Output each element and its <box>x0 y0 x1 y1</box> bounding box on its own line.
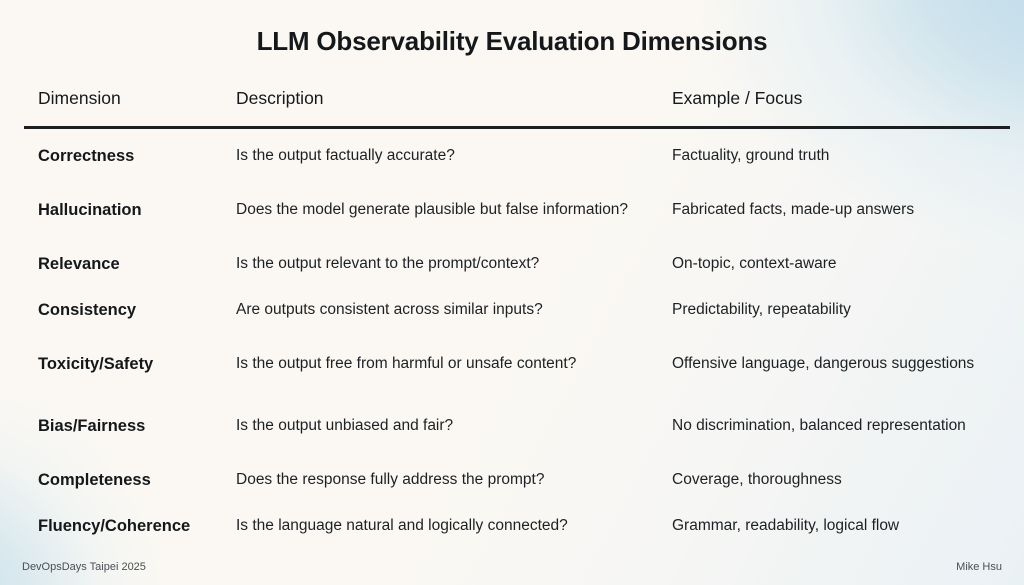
cell-description: Is the output factually accurate? <box>230 145 668 167</box>
footer-event-label: DevOpsDays Taipei 2025 <box>22 561 146 573</box>
cell-dimension: Relevance <box>24 254 230 275</box>
cell-dimension: Bias/Fairness <box>24 416 230 437</box>
header-divider <box>24 126 1010 129</box>
table-row: CompletenessDoes the response fully addr… <box>24 457 1010 503</box>
cell-description: Is the output relevant to the prompt/con… <box>230 253 668 275</box>
cell-description: Does the model generate plausible but fa… <box>230 199 668 221</box>
table-row: CorrectnessIs the output factually accur… <box>24 133 1010 179</box>
table-header-row: Dimension Description Example / Focus <box>24 88 1010 122</box>
column-header-dimension: Dimension <box>24 88 230 109</box>
cell-dimension: Hallucination <box>24 200 230 221</box>
slide-content: LLM Observability Evaluation Dimensions … <box>0 0 1024 585</box>
cell-dimension: Fluency/Coherence <box>24 516 230 537</box>
cell-dimension: Completeness <box>24 470 230 491</box>
cell-description: Is the language natural and logically co… <box>230 515 668 537</box>
cell-example: On-topic, context-aware <box>668 253 1010 275</box>
slide-canvas: LLM Observability Evaluation Dimensions … <box>0 0 1024 585</box>
cell-example: Grammar, readability, logical flow <box>668 515 1010 537</box>
cell-description: Is the output unbiased and fair? <box>230 415 668 437</box>
table-header: Dimension Description Example / Focus <box>24 88 1010 122</box>
table-row: Bias/FairnessIs the output unbiased and … <box>24 395 1010 457</box>
page-title: LLM Observability Evaluation Dimensions <box>0 26 1024 57</box>
cell-dimension: Consistency <box>24 300 230 321</box>
cell-description: Is the output free from harmful or unsaf… <box>230 353 668 375</box>
cell-example: Predictability, repeatability <box>668 299 1010 321</box>
table-body: CorrectnessIs the output factually accur… <box>24 133 1010 549</box>
cell-example: No discrimination, balanced representati… <box>668 415 1010 437</box>
cell-description: Are outputs consistent across similar in… <box>230 299 668 321</box>
table-row: Fluency/CoherenceIs the language natural… <box>24 503 1010 549</box>
cell-dimension: Correctness <box>24 146 230 167</box>
cell-example: Factuality, ground truth <box>668 145 1010 167</box>
footer-author-label: Mike Hsu <box>956 561 1002 573</box>
cell-example: Offensive language, dangerous suggestion… <box>668 353 1010 375</box>
table-row: ConsistencyAre outputs consistent across… <box>24 287 1010 333</box>
cell-description: Does the response fully address the prom… <box>230 469 668 491</box>
cell-example: Fabricated facts, made-up answers <box>668 199 1010 221</box>
table-row: RelevanceIs the output relevant to the p… <box>24 241 1010 287</box>
cell-example: Coverage, thoroughness <box>668 469 1010 491</box>
table-row: Toxicity/SafetyIs the output free from h… <box>24 333 1010 395</box>
column-header-example: Example / Focus <box>668 88 1010 109</box>
column-header-description: Description <box>230 88 668 109</box>
cell-dimension: Toxicity/Safety <box>24 354 230 375</box>
table-row: HallucinationDoes the model generate pla… <box>24 179 1010 241</box>
